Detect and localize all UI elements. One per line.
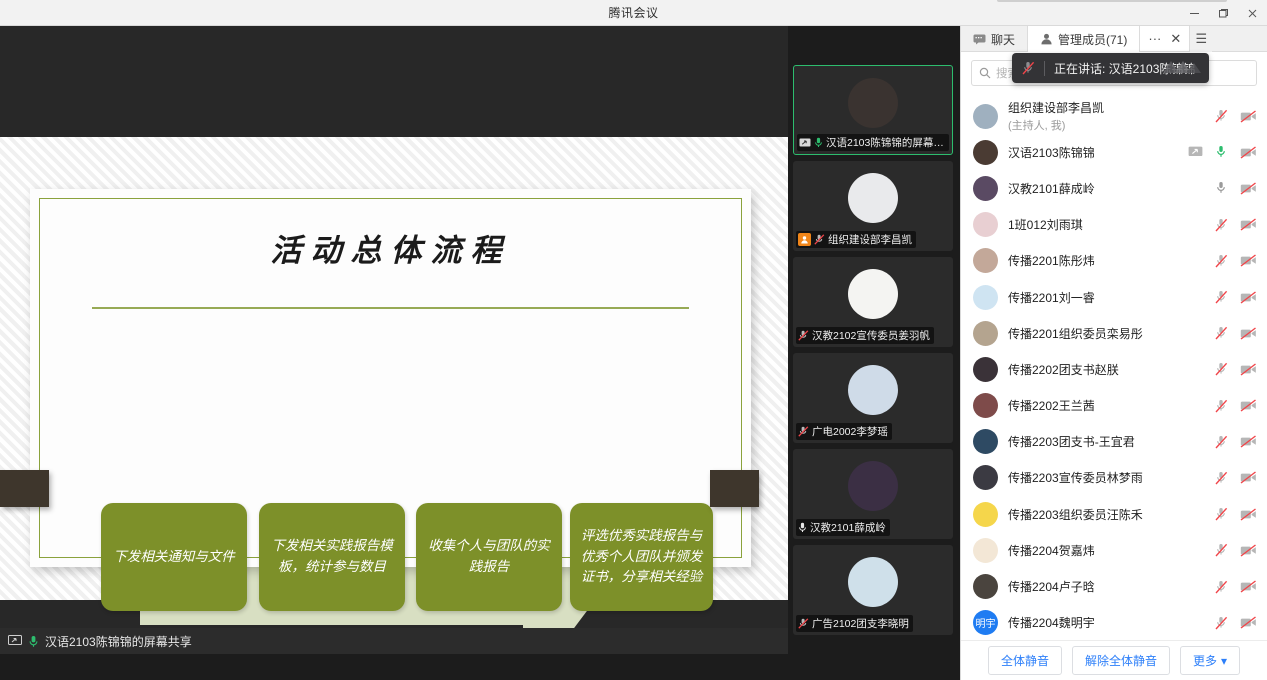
camera-off-icon[interactable] (1240, 435, 1257, 448)
participant-name: 传播2201组织委员栾易彤 (1008, 325, 1215, 342)
participant-name: 传播2201刘一睿 (1008, 289, 1215, 306)
list-item[interactable]: 明宇 传播2204魏明宇 (961, 605, 1267, 640)
mic-muted-icon[interactable] (1215, 435, 1228, 449)
mic-on-icon (798, 522, 807, 533)
camera-off-icon[interactable] (1240, 327, 1257, 340)
screen-share-icon (799, 138, 811, 148)
mic-muted-icon[interactable] (1215, 362, 1228, 376)
camera-off-icon[interactable] (1240, 110, 1257, 123)
flow-step-1: 下发相关通知与文件 (101, 503, 247, 611)
avatar (973, 248, 998, 273)
unmute-all-button[interactable]: 解除全体静音 (1072, 646, 1170, 675)
mic-muted-icon[interactable] (1215, 326, 1228, 340)
participant-controls (1215, 616, 1257, 630)
audio-wave-icon (1161, 59, 1201, 77)
participant-info: 汉教2101薛成岭 (998, 180, 1215, 197)
title-bar: 腾讯会议 (0, 0, 1267, 26)
video-tile[interactable]: 组织建设部李昌凯 (793, 161, 953, 251)
participant-info: 汉语2103陈锦锦 (998, 144, 1188, 161)
video-tile[interactable]: 广电2002李梦瑶 (793, 353, 953, 443)
list-item[interactable]: 传播2204卢子晗 (961, 568, 1267, 604)
camera-off-icon[interactable] (1240, 182, 1257, 195)
avatar (848, 269, 898, 319)
panel-menu-icon[interactable]: ☰ (1189, 26, 1212, 52)
avatar (973, 285, 998, 310)
slide-decor-tab-left (0, 470, 49, 507)
tile-footer: 汉教2102宣传委员姜羽帆 (796, 327, 934, 344)
slide-decor-tab-right (710, 470, 759, 507)
participant-controls (1215, 435, 1257, 449)
list-item[interactable]: 传播2201陈彤炜 (961, 243, 1267, 279)
camera-off-icon[interactable] (1240, 218, 1257, 231)
people-icon (1040, 33, 1053, 45)
camera-off-icon[interactable] (1240, 471, 1257, 484)
window-controls (1180, 0, 1267, 26)
participant-controls (1215, 218, 1257, 232)
participant-name: 汉语2103陈锦锦 (1008, 144, 1188, 161)
mic-on-icon[interactable] (1215, 145, 1228, 159)
panel-tabs: 聊天 管理成员(71) ··· ✕ ☰ (961, 26, 1267, 52)
avatar (848, 461, 898, 511)
participant-controls (1215, 399, 1257, 413)
participant-name: 传播2203组织委员汪陈禾 (1008, 506, 1215, 523)
presentation-slide: 活动总体流程 下发相关通知与文件 下发相关实践报告模板，统计参与数目 收集个人与… (0, 137, 788, 600)
screen-share-label: 汉语2103陈锦锦的屏幕共享 (45, 633, 192, 650)
avatar (973, 429, 998, 454)
mute-all-button[interactable]: 全体静音 (988, 646, 1062, 675)
list-item[interactable]: 汉语2103陈锦锦 (961, 134, 1267, 170)
participant-name: 传播2203宣传委员林梦雨 (1008, 469, 1215, 486)
avatar (848, 173, 898, 223)
tab-chat[interactable]: 聊天 (961, 26, 1028, 52)
video-tile[interactable]: 汉教2101薛成岭 (793, 449, 953, 539)
participant-info: 传播2202王兰茜 (998, 397, 1215, 414)
chat-icon (973, 34, 986, 45)
mic-on-icon (28, 635, 39, 648)
participant-controls (1215, 254, 1257, 268)
participant-name: 传播2203团支书-王宜君 (1008, 433, 1215, 450)
flow-step-3: 收集个人与团队的实践报告 (416, 503, 562, 611)
video-filmstrip[interactable]: 汉语2103陈锦锦的屏幕共享 组织建设部李昌凯 汉 (788, 26, 960, 654)
tab-manage-members[interactable]: 管理成员(71) (1028, 26, 1140, 52)
camera-off-icon[interactable] (1240, 508, 1257, 521)
close-button[interactable] (1238, 0, 1267, 26)
participant-name: 传播2202王兰茜 (1008, 397, 1215, 414)
camera-off-icon[interactable] (1240, 399, 1257, 412)
mic-muted-icon (798, 426, 809, 437)
avatar (848, 557, 898, 607)
tile-footer: 广告2102团支李晓明 (796, 615, 913, 632)
participant-controls (1215, 362, 1257, 376)
camera-off-icon[interactable] (1240, 544, 1257, 557)
participant-controls (1215, 507, 1257, 521)
participant-info: 组织建设部李昌凯 (主持人, 我) (998, 99, 1215, 133)
participant-info: 传播2204卢子晗 (998, 578, 1215, 595)
camera-off-icon[interactable] (1240, 291, 1257, 304)
avatar (973, 176, 998, 201)
list-item[interactable]: 传播2201刘一睿 (961, 279, 1267, 315)
participant-role: (主持人, 我) (1008, 117, 1215, 133)
tab-manage-members-label: 管理成员(71) (1058, 31, 1127, 48)
mic-muted-icon[interactable] (1215, 290, 1228, 304)
participant-info: 传播2203组织委员汪陈禾 (998, 506, 1215, 523)
camera-off-icon[interactable] (1240, 616, 1257, 629)
mic-muted-icon (1022, 61, 1035, 75)
participant-info: 传播2203团支书-王宜君 (998, 433, 1215, 450)
tile-footer: 汉语2103陈锦锦的屏幕共享 (797, 134, 949, 151)
mic-muted-icon[interactable] (1215, 507, 1228, 521)
avatar (973, 465, 998, 490)
panel-footer: 全体静音 解除全体静音 更多 ▾ (961, 640, 1267, 680)
slide-title-rule (92, 307, 689, 309)
video-tile[interactable]: 汉语2103陈锦锦的屏幕共享 (793, 65, 953, 155)
slide-title: 活动总体流程 (30, 225, 751, 270)
mic-muted-icon (798, 330, 809, 341)
avatar (848, 365, 898, 415)
avatar (973, 574, 998, 599)
list-item[interactable]: 传播2201组织委员栾易彤 (961, 315, 1267, 351)
mic-muted-icon[interactable] (1215, 254, 1228, 268)
flow-step-4: 评选优秀实践报告与优秀个人团队并颁发证书，分享相关经验 (570, 503, 713, 611)
avatar (973, 212, 998, 237)
minimize-button[interactable] (1180, 0, 1209, 26)
side-panel: 聊天 管理成员(71) ··· ✕ ☰ 搜索 (960, 26, 1267, 680)
meeting-window: 腾讯会议 活动总体流程 下 (0, 0, 1267, 680)
participant-list[interactable]: 组织建设部李昌凯 (主持人, 我) 汉语2103陈锦锦 (961, 98, 1267, 640)
more-button[interactable]: 更多 ▾ (1180, 646, 1240, 675)
mic-muted-icon[interactable] (1215, 399, 1228, 413)
screen-share-icon (1188, 146, 1203, 158)
list-item[interactable]: 传播2203团支书-王宜君 (961, 424, 1267, 460)
participant-name: 传播2204贺嘉炜 (1008, 542, 1215, 559)
participant-name: 传播2204卢子晗 (1008, 578, 1215, 595)
avatar (973, 357, 998, 382)
more-options-icon[interactable]: ··· (1148, 31, 1161, 46)
mic-muted-icon[interactable] (1215, 471, 1228, 485)
participant-info: 传播2204贺嘉炜 (998, 542, 1215, 559)
avatar (973, 140, 998, 165)
tile-participant-name: 汉教2101薛成岭 (810, 520, 886, 535)
avatar (973, 538, 998, 563)
participant-controls (1215, 326, 1257, 340)
mic-muted-icon[interactable] (1215, 616, 1228, 630)
panel-tab-actions: ··· ✕ (1140, 26, 1189, 51)
list-item[interactable]: 传播2204贺嘉炜 (961, 532, 1267, 568)
participant-info: 传播2201刘一睿 (998, 289, 1215, 306)
participant-controls (1215, 471, 1257, 485)
participant-name: 组织建设部李昌凯 (1008, 99, 1215, 116)
avatar (973, 104, 998, 129)
video-tile[interactable]: 汉教2102宣传委员姜羽帆 (793, 257, 953, 347)
participant-info: 传播2201组织委员栾易彤 (998, 325, 1215, 342)
participant-info: 传播2204魏明宇 (998, 614, 1215, 631)
camera-off-icon[interactable] (1240, 146, 1257, 159)
avatar (973, 502, 998, 527)
screen-share-icon (8, 635, 22, 647)
participant-name: 汉教2101薛成岭 (1008, 180, 1215, 197)
more-button-label: 更多 (1193, 652, 1217, 669)
avatar: 明宇 (973, 610, 998, 635)
speaking-tooltip: 正在讲话: 汉语2103陈锦锦 (1012, 53, 1209, 83)
mic-on-icon (814, 137, 823, 148)
avatar (973, 321, 998, 346)
participant-controls (1188, 145, 1257, 159)
list-item[interactable]: 传播2202王兰茜 (961, 388, 1267, 424)
participant-controls (1215, 109, 1257, 123)
mic-muted-icon[interactable] (1215, 109, 1228, 123)
avatar (848, 78, 898, 128)
camera-off-icon[interactable] (1240, 254, 1257, 267)
mic-muted-icon[interactable] (1215, 543, 1228, 557)
camera-off-icon[interactable] (1240, 580, 1257, 593)
mic-muted-icon (814, 234, 825, 245)
tile-participant-name: 汉语2103陈锦锦的屏幕共享 (826, 135, 945, 150)
restore-button[interactable] (1209, 0, 1238, 26)
tile-participant-name: 汉教2102宣传委员姜羽帆 (812, 328, 930, 343)
tile-footer: 组织建设部李昌凯 (796, 231, 916, 248)
search-icon (979, 67, 991, 79)
flow-step-2: 下发相关实践报告模板，统计参与数目 (259, 503, 405, 611)
list-item[interactable]: 传播2203组织委员汪陈禾 (961, 496, 1267, 532)
tile-participant-name: 广电2002李梦瑶 (812, 424, 888, 439)
tile-footer: 广电2002李梦瑶 (796, 423, 892, 440)
list-item[interactable]: 传播2203宣传委员林梦雨 (961, 460, 1267, 496)
participant-info: 传播2201陈彤炜 (998, 252, 1215, 269)
tile-participant-name: 组织建设部李昌凯 (828, 232, 912, 247)
close-panel-icon[interactable]: ✕ (1170, 31, 1181, 47)
participant-name: 传播2202团支书赵朕 (1008, 361, 1215, 378)
participant-name: 传播2204魏明宇 (1008, 614, 1215, 631)
list-item[interactable]: 汉教2101薛成岭 (961, 170, 1267, 206)
tab-chat-label: 聊天 (991, 31, 1015, 48)
list-item[interactable]: 传播2202团支书赵朕 (961, 351, 1267, 387)
chevron-down-icon: ▾ (1221, 654, 1227, 668)
tooltip-divider (1044, 61, 1045, 76)
screen-share-banner: 汉语2103陈锦锦的屏幕共享 (0, 628, 788, 654)
shared-screen-stage[interactable]: 活动总体流程 下发相关通知与文件 下发相关实践报告模板，统计参与数目 收集个人与… (0, 26, 788, 654)
participant-controls (1215, 290, 1257, 304)
mic-muted-icon (798, 618, 809, 629)
mic-muted-icon[interactable] (1215, 218, 1228, 232)
mic-on-icon[interactable] (1215, 181, 1228, 195)
participant-info: 传播2202团支书赵朕 (998, 361, 1215, 378)
participant-controls (1215, 543, 1257, 557)
participant-name: 1班012刘雨琪 (1008, 216, 1215, 233)
tile-footer: 汉教2101薛成岭 (796, 519, 890, 536)
participant-info: 传播2203宣传委员林梦雨 (998, 469, 1215, 486)
participant-controls (1215, 580, 1257, 594)
avatar (973, 393, 998, 418)
participant-controls (1215, 181, 1257, 195)
mic-muted-icon[interactable] (1215, 580, 1228, 594)
tile-participant-name: 广告2102团支李晓明 (812, 616, 909, 631)
camera-off-icon[interactable] (1240, 363, 1257, 376)
video-tile[interactable]: 广告2102团支李晓明 (793, 545, 953, 635)
list-item[interactable]: 组织建设部李昌凯 (主持人, 我) (961, 98, 1267, 134)
list-item[interactable]: 1班012刘雨琪 (961, 207, 1267, 243)
participant-name: 传播2201陈彤炜 (1008, 252, 1215, 269)
window-title: 腾讯会议 (608, 4, 658, 21)
host-badge-icon (798, 233, 811, 246)
participant-info: 1班012刘雨琪 (998, 216, 1215, 233)
